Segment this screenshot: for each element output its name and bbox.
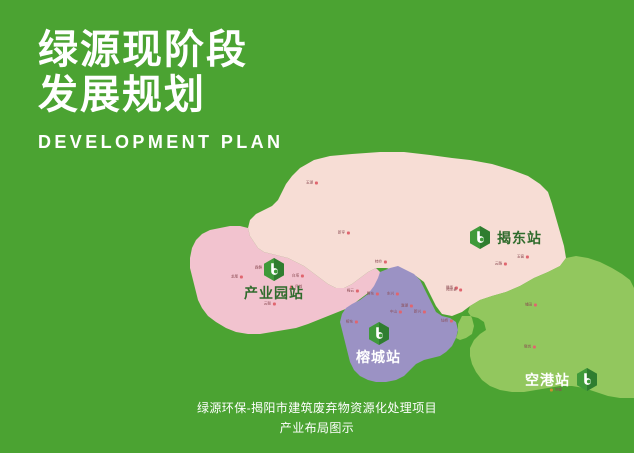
station-marker-jiedong[interactable]: 揭东站 — [470, 226, 542, 249]
title-block: 绿源现阶段 发展规划 DEVELOPMENT PLAN — [38, 28, 283, 153]
town-dot-icon — [399, 311, 402, 314]
town-dot-icon — [356, 290, 359, 293]
caption-block: 绿源环保-揭阳市建筑废弃物资源化处理项目 产业布局图示 — [0, 398, 634, 438]
town-label: 东兴 — [387, 292, 399, 297]
town-dot-icon — [376, 293, 379, 296]
town-dot-icon — [526, 256, 529, 259]
town-label-text: 登岗 — [524, 345, 531, 350]
town-label: 梅云 — [347, 289, 359, 294]
poster-canvas: 绿源现阶段 发展规划 DEVELOPMENT PLAN 揭东站 产业园站 — [0, 0, 634, 453]
town-label-text: 梅云 — [347, 289, 354, 294]
town-label: 龙尾 — [231, 275, 243, 280]
town-label-text: 东兴 — [387, 292, 394, 297]
town-label-text: 桂岭 — [375, 260, 382, 265]
title-line-2: 发展规划 — [38, 73, 283, 118]
station-label-rongcheng: 榕城站 — [356, 347, 401, 367]
town-label-text: 榕东 — [346, 320, 353, 325]
station-marker-konggang[interactable]: 空港站 — [525, 368, 597, 391]
title-line-1: 绿源现阶段 — [38, 28, 283, 73]
town-label-text: 玉湖 — [306, 181, 313, 186]
town-label-text: 揭东县 — [446, 288, 457, 293]
lvyuan-hex-logo-icon — [369, 322, 389, 345]
town-dot-icon — [504, 263, 507, 266]
town-label: 桂岭 — [375, 260, 387, 265]
town-dot-icon — [423, 311, 426, 314]
town-dot-icon — [396, 293, 399, 296]
lvyuan-hex-logo-icon — [470, 226, 490, 249]
town-label: 揭东县 — [446, 288, 462, 293]
town-label: 玉窖 — [517, 255, 529, 260]
town-label: 埔田 — [525, 303, 537, 308]
town-dot-icon — [533, 346, 536, 349]
caption-line-2: 产业布局图示 — [0, 418, 634, 438]
caption-line-1: 绿源环保-揭阳市建筑废弃物资源化处理项目 — [0, 398, 634, 418]
town-label-text: 仙桥 — [441, 319, 448, 324]
town-dot-icon — [384, 261, 387, 264]
town-label-text: 云路 — [495, 262, 502, 267]
town-label-text: 玉窖 — [517, 255, 524, 260]
town-label-text: 磐东 — [367, 292, 374, 297]
subtitle-english: DEVELOPMENT PLAN — [38, 132, 283, 153]
town-label-text: 龙尾 — [231, 275, 238, 280]
town-dot-icon — [450, 320, 453, 323]
station-marker-rongcheng[interactable]: 榕城站 — [356, 322, 401, 367]
town-label: 中山 — [390, 310, 402, 315]
town-dot-icon — [315, 182, 318, 185]
station-label-chanyeyuan: 产业园站 — [244, 283, 304, 303]
town-label: 磐东 — [367, 292, 379, 297]
station-marker-chanyeyuan[interactable]: 产业园站 — [244, 258, 304, 303]
town-label: 玉湖 — [306, 181, 318, 186]
town-label: 登岗 — [524, 345, 536, 350]
town-label: 云路 — [495, 262, 507, 267]
lvyuan-hex-logo-icon — [264, 258, 284, 281]
town-label: 新亨 — [338, 231, 350, 236]
town-dot-icon — [459, 289, 462, 292]
town-dot-icon — [410, 305, 413, 308]
town-label: 新兴 — [414, 310, 426, 315]
town-label: 仙桥 — [441, 319, 453, 324]
town-dot-icon — [240, 276, 243, 279]
town-label: 渔湖 — [401, 304, 413, 309]
town-label-text: 新亨 — [338, 231, 345, 236]
station-label-jiedong: 揭东站 — [497, 228, 542, 248]
town-label-text: 中山 — [390, 310, 397, 315]
town-dot-icon — [534, 304, 537, 307]
lvyuan-hex-logo-icon — [577, 368, 597, 391]
town-label-text: 埔田 — [525, 303, 532, 308]
town-dot-icon — [347, 232, 350, 235]
town-label-text: 渔湖 — [401, 304, 408, 309]
station-label-konggang: 空港站 — [525, 370, 570, 390]
town-label-text: 新兴 — [414, 310, 421, 315]
